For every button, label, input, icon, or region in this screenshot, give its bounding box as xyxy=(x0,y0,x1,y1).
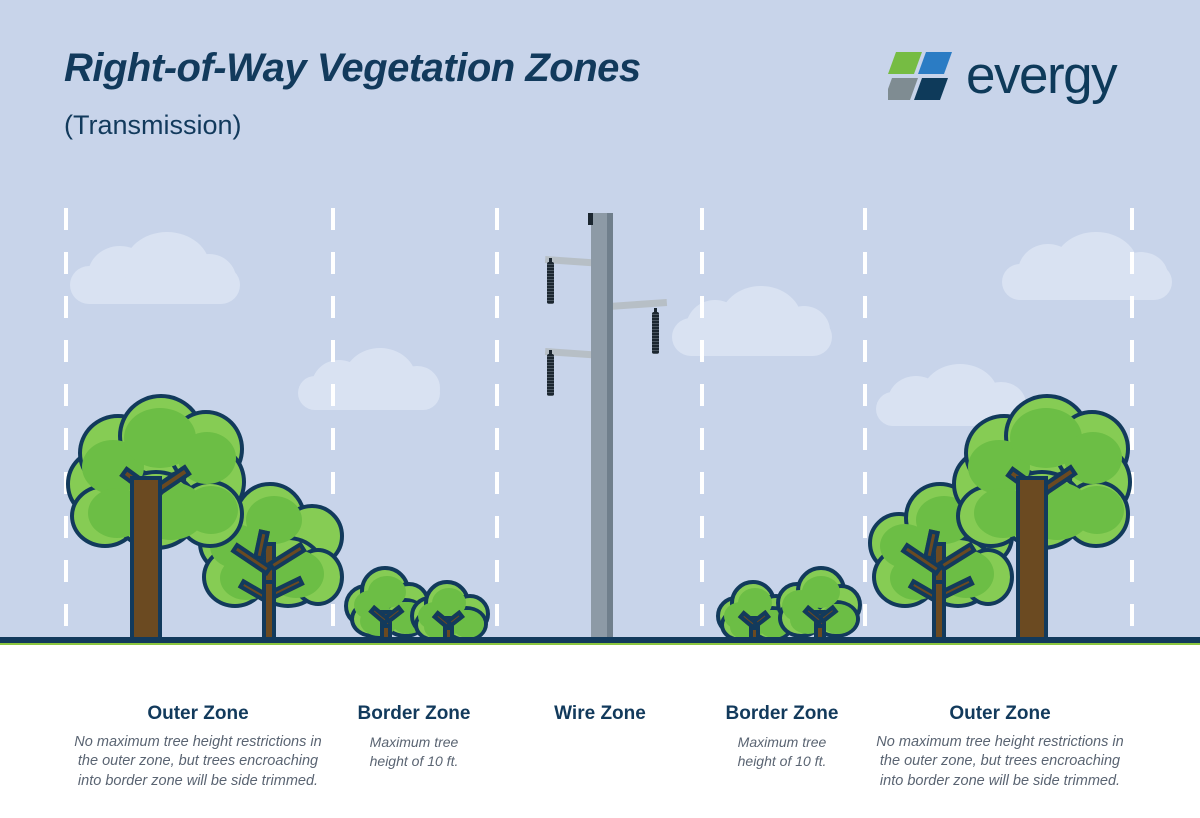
header: Right-of-Way Vegetation Zones (Transmiss… xyxy=(0,0,1200,200)
pole-crossarm-middle-right xyxy=(609,299,667,310)
zone-desc-line: No maximum tree height restrictions in xyxy=(48,733,348,752)
zone-desc-line: the outer zone, but trees encroaching xyxy=(48,752,348,771)
infographic-root: Right-of-Way Vegetation Zones (Transmiss… xyxy=(0,0,1200,818)
zone-desc-line: into border zone will be side trimmed. xyxy=(48,772,348,791)
zone-label-outer-left: Outer Zone No maximum tree height restri… xyxy=(48,703,348,791)
insulator-upper-left xyxy=(547,262,554,304)
pole-top-cap xyxy=(588,213,593,225)
zone-label-border-right: Border Zone Maximum tree height of 10 ft… xyxy=(702,703,862,770)
pole-column-shading xyxy=(607,213,613,645)
zone-desc-line: the outer zone, but trees encroaching xyxy=(850,752,1150,771)
zone-labels-footer: Outer Zone No maximum tree height restri… xyxy=(0,681,1200,818)
zone-label-border-left: Border Zone Maximum tree height of 10 ft… xyxy=(334,703,494,770)
evergy-wordmark: evergy xyxy=(966,45,1116,107)
zone-desc-line: into border zone will be side trimmed. xyxy=(850,772,1150,791)
zone-title: Outer Zone xyxy=(850,703,1150,725)
zone-title: Border Zone xyxy=(702,703,862,725)
zone-desc-line: Maximum tree xyxy=(702,733,862,752)
evergy-chevron-logo-icon xyxy=(888,52,952,100)
zone-desc-line: Maximum tree xyxy=(334,733,494,752)
zone-desc-line: No maximum tree height restrictions in xyxy=(850,733,1150,752)
evergy-logo[interactable]: evergy xyxy=(888,46,1138,108)
insulator-lower-left xyxy=(547,354,554,396)
page-subtitle: (Transmission) xyxy=(64,110,242,141)
zone-title: Border Zone xyxy=(334,703,494,725)
zone-label-wire: Wire Zone xyxy=(520,703,680,733)
zone-description: No maximum tree height restrictions in t… xyxy=(850,733,1150,791)
zone-desc-line: height of 10 ft. xyxy=(702,752,862,771)
zone-description: Maximum tree height of 10 ft. xyxy=(702,733,862,770)
zone-label-outer-right: Outer Zone No maximum tree height restri… xyxy=(850,703,1150,791)
zone-description: Maximum tree height of 10 ft. xyxy=(334,733,494,770)
zone-description: No maximum tree height restrictions in t… xyxy=(48,733,348,791)
zone-title: Outer Zone xyxy=(48,703,348,725)
zone-desc-line: height of 10 ft. xyxy=(334,752,494,771)
zone-title: Wire Zone xyxy=(520,703,680,725)
grass-band xyxy=(0,643,1200,645)
insulator-middle-right xyxy=(652,312,659,354)
page-title: Right-of-Way Vegetation Zones xyxy=(64,46,641,91)
